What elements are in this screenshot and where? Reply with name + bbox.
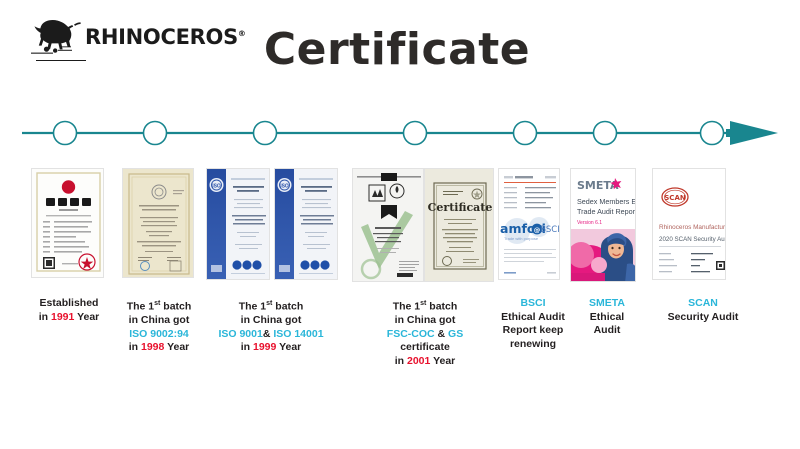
caption-line: in 2001 Year bbox=[355, 355, 495, 369]
caption-scan: SCANSecurity Audit bbox=[648, 297, 758, 324]
caption-run: ISO 9002:94 bbox=[129, 328, 189, 340]
caption-established-1991: Establishedin 1991 Year bbox=[14, 297, 124, 324]
caption-run: in bbox=[129, 341, 141, 353]
caption-run: BSCI bbox=[520, 297, 545, 309]
certificate-gs[interactable]: Certificate bbox=[424, 168, 494, 282]
caption-fsc-gs-2001: The 1st batchin China gotFSC-COC & GScer… bbox=[355, 297, 495, 368]
caption-run: in bbox=[241, 341, 253, 353]
timeline-node-4 bbox=[404, 122, 427, 145]
caption-run: in bbox=[39, 311, 51, 323]
svg-text:Trade with purpose: Trade with purpose bbox=[504, 236, 539, 241]
caption-run: GS bbox=[448, 328, 463, 340]
caption-line: The 1st batch bbox=[355, 297, 495, 314]
caption-run: SMETA bbox=[589, 297, 625, 309]
caption-run: Audit bbox=[594, 324, 621, 336]
caption-line: in 1991 Year bbox=[14, 311, 124, 325]
caption-run: Year bbox=[276, 341, 301, 353]
certificate-amfori-bsci[interactable]: amfori @ BSCI Trade with purpose bbox=[498, 168, 560, 280]
svg-text:SMETA: SMETA bbox=[577, 179, 619, 192]
caption-run: 1999 bbox=[253, 341, 276, 353]
caption-line: Report keep bbox=[492, 324, 574, 338]
caption-run: SCAN bbox=[688, 297, 718, 309]
caption-run: 1991 bbox=[51, 311, 74, 323]
caption-line: Security Audit bbox=[648, 311, 758, 325]
caption-run: & bbox=[263, 328, 274, 340]
certificate-gallery: ISO bbox=[0, 168, 800, 286]
caption-run: Year bbox=[164, 341, 189, 353]
caption-run: & bbox=[435, 328, 448, 340]
svg-text:Rhinoceros Manufacturing (Zhon: Rhinoceros Manufacturing (Zhongshan) Ltd bbox=[659, 224, 726, 231]
svg-text:Version 6.1: Version 6.1 bbox=[577, 220, 602, 226]
caption-line: The 1st batch bbox=[199, 297, 343, 314]
caption-run: FSC-COC bbox=[387, 328, 435, 340]
page-title: Certificate bbox=[0, 24, 800, 75]
timeline-node-7 bbox=[701, 122, 724, 145]
caption-line: ISO 9002:94 bbox=[113, 328, 205, 342]
caption-line: FSC-COC & GS bbox=[355, 328, 495, 342]
caption-line: ISO 9001& ISO 14001 bbox=[199, 328, 343, 342]
svg-text:BSCI: BSCI bbox=[540, 225, 560, 235]
caption-run: Established bbox=[40, 297, 99, 309]
certificate-iso-9001[interactable]: ISO bbox=[206, 168, 270, 280]
caption-line: in 1999 Year bbox=[199, 341, 343, 355]
timeline bbox=[0, 112, 800, 154]
certificate-business-license[interactable] bbox=[31, 168, 104, 278]
svg-text:Certificate: Certificate bbox=[428, 201, 493, 214]
caption-run: batch bbox=[272, 301, 303, 313]
caption-smeta: SMETAEthicalAudit bbox=[570, 297, 644, 338]
caption-bsci: BSCIEthical AuditReport keeprenewing bbox=[492, 297, 574, 351]
caption-run: in China got bbox=[241, 314, 302, 326]
caption-line: in China got bbox=[199, 314, 343, 328]
caption-iso-9002-1998: The 1st batchin China gotISO 9002:94in 1… bbox=[113, 297, 205, 355]
svg-text:Sedex Members Ethical: Sedex Members Ethical bbox=[577, 197, 636, 206]
caption-run: 1998 bbox=[141, 341, 164, 353]
caption-line: Ethical bbox=[570, 311, 644, 325]
caption-line: Audit bbox=[570, 324, 644, 338]
caption-run: ISO 14001 bbox=[273, 328, 323, 340]
caption-run: Year bbox=[430, 355, 455, 367]
caption-line: in China got bbox=[113, 314, 205, 328]
caption-run: 2001 bbox=[407, 355, 430, 367]
timeline-node-3 bbox=[254, 122, 277, 145]
svg-text:SCAN: SCAN bbox=[664, 194, 686, 202]
svg-text:ISO: ISO bbox=[212, 184, 221, 190]
caption-run: batch bbox=[426, 301, 457, 313]
svg-text:ISO: ISO bbox=[280, 184, 289, 190]
svg-text:2020 SCAN Security Audit: 2020 SCAN Security Audit bbox=[659, 236, 726, 243]
caption-run: Ethical bbox=[590, 311, 624, 323]
caption-run: ISO 9001 bbox=[218, 328, 262, 340]
svg-text:Trade Audit Report: Trade Audit Report bbox=[577, 207, 636, 216]
caption-line: in 1998 Year bbox=[113, 341, 205, 355]
caption-iso-9001-14001-1999: The 1st batchin China gotISO 9001& ISO 1… bbox=[199, 297, 343, 355]
caption-run: Year bbox=[74, 311, 99, 323]
caption-run: in China got bbox=[129, 314, 190, 326]
arrow-right-icon bbox=[726, 121, 778, 145]
caption-line: The 1st batch bbox=[113, 297, 205, 314]
timeline-node-5 bbox=[514, 122, 537, 145]
caption-line: BSCI bbox=[492, 297, 574, 311]
caption-run: renewing bbox=[510, 338, 556, 350]
caption-line: in China got bbox=[355, 314, 495, 328]
caption-line: Established bbox=[14, 297, 124, 311]
caption-line: SMETA bbox=[570, 297, 644, 311]
caption-run: in bbox=[395, 355, 407, 367]
certificate-iso-14001[interactable]: ISO bbox=[274, 168, 338, 280]
timeline-node-2 bbox=[144, 122, 167, 145]
caption-run: Security Audit bbox=[668, 311, 739, 323]
certificate-smeta[interactable]: SMETA Sedex Members Ethical Trade Audit … bbox=[570, 168, 636, 282]
caption-run: Report keep bbox=[503, 324, 564, 336]
certificate-fsc-coc[interactable] bbox=[352, 168, 424, 282]
caption-line: Ethical Audit bbox=[492, 311, 574, 325]
caption-run: certificate bbox=[400, 341, 450, 353]
caption-line: SCAN bbox=[648, 297, 758, 311]
caption-run: The 1 bbox=[393, 301, 420, 313]
caption-run: The 1 bbox=[127, 301, 154, 313]
certificate-scan[interactable]: SCAN Rhinoceros Manufacturing (Zhongshan… bbox=[652, 168, 726, 280]
caption-line: certificate bbox=[355, 341, 495, 355]
certificate-iso-9002[interactable] bbox=[122, 168, 194, 278]
caption-run: The 1 bbox=[239, 301, 266, 313]
caption-run: Ethical Audit bbox=[501, 311, 565, 323]
timeline-node-1 bbox=[54, 122, 77, 145]
caption-run: batch bbox=[160, 301, 191, 313]
caption-line: renewing bbox=[492, 338, 574, 352]
timeline-node-6 bbox=[594, 122, 617, 145]
caption-run: in China got bbox=[395, 314, 456, 326]
certificate-slide: RHINOCEROS® Certificate bbox=[0, 0, 800, 449]
